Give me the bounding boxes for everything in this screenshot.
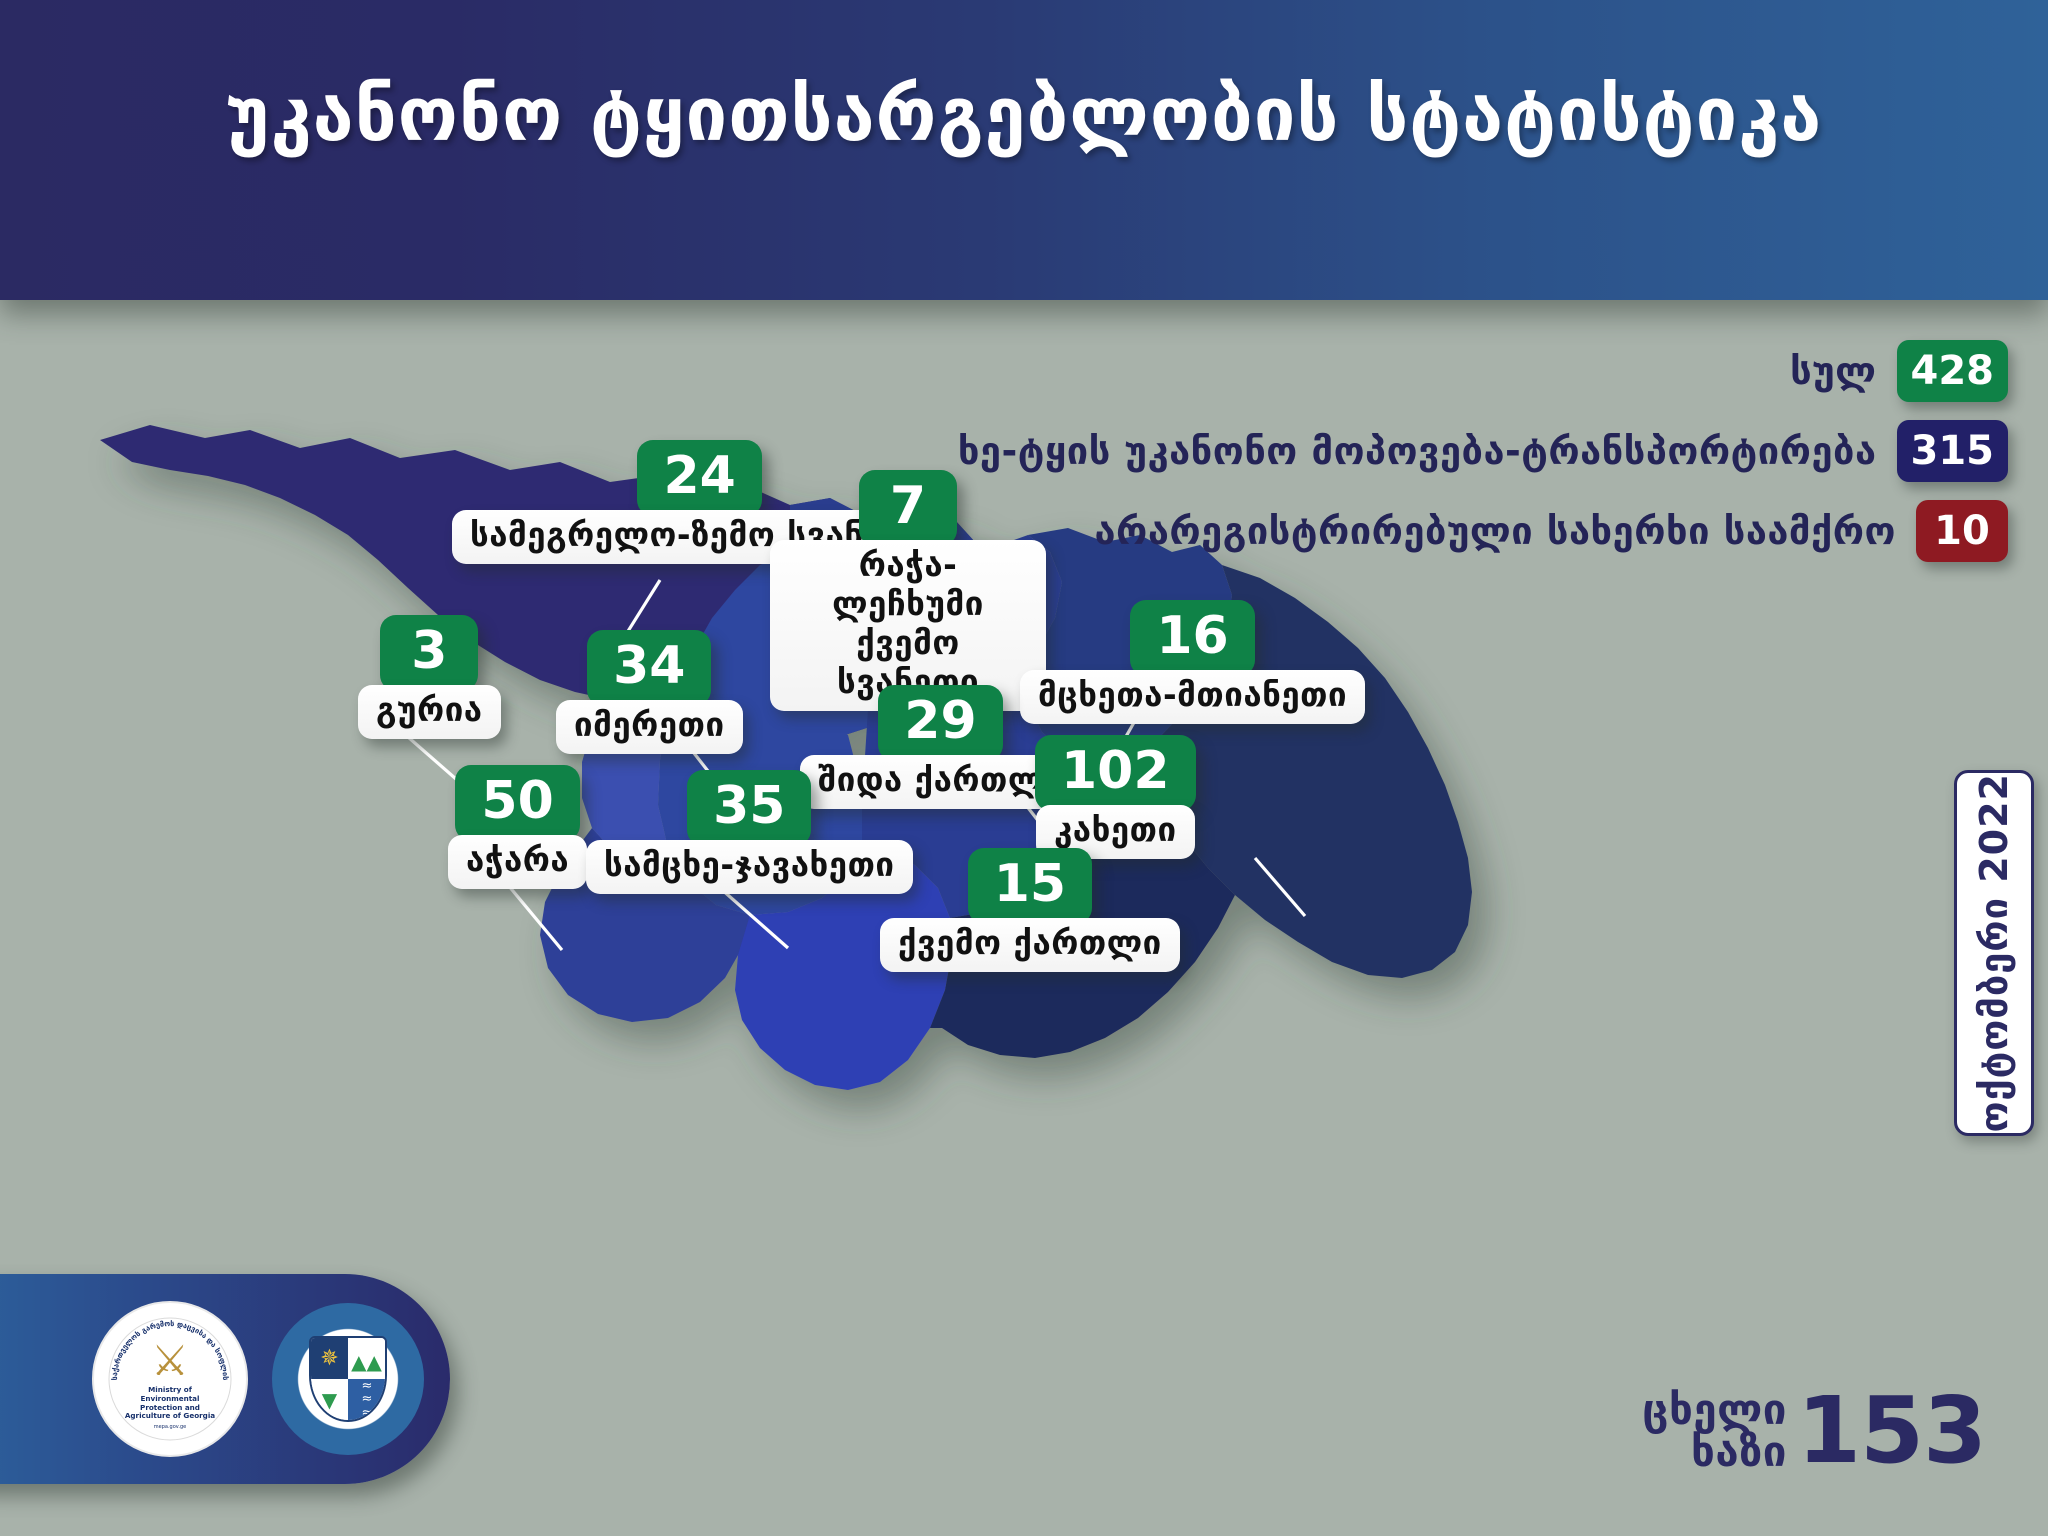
callout-label-samtskhe: სამცხე-ჯავახეთი (586, 840, 913, 894)
waves-icon: ≈≈≈ (362, 1379, 372, 1420)
legend-row-logging: ხე-ტყის უკანონო მოპოვება-ტრანსპორტირება … (658, 420, 2008, 482)
callout-imereti[interactable]: 34 იმერეთი (556, 630, 743, 754)
hotline-label-line1: ცხელი (1642, 1389, 1787, 1430)
svg-text:საქართველოს გარემოს დაცვისა და: საქართველოს გარემოს დაცვისა და სოფლის (110, 1319, 230, 1380)
hotline: ცხელი ხაზი 153 (1642, 1377, 1986, 1484)
shield-quadrant-mountain: ▲▲ (348, 1338, 385, 1379)
legend-label-sawmill: არარეგისტრირებული სახერხი საამქრო (1095, 509, 1897, 553)
callout-value-guria: 3 (380, 615, 478, 691)
mepa-logo-inner: საქართველოს გარემოს დაცვისა და სოფლის ⚔ … (107, 1316, 233, 1442)
mepa-ring-text: საქართველოს გარემოს დაცვისა და სოფლის (107, 1316, 233, 1442)
legend-chip-sawmill: 10 (1916, 500, 2008, 562)
shield-quadrant-tree: ▼ (311, 1379, 348, 1420)
callout-value-imereti: 34 (587, 630, 711, 706)
eps-shield-icon: ✵ ▲▲ ▼ ≈≈≈ (309, 1336, 387, 1422)
legend-label-logging: ხე-ტყის უკანონო მოპოვება-ტრანსპორტირება (958, 429, 1877, 473)
hotline-number: 153 (1797, 1377, 1986, 1484)
callout-label-imereti: იმერეთი (556, 700, 743, 754)
sun-icon: ✵ (320, 1348, 338, 1370)
legend-chip-logging: 315 (1897, 420, 2009, 482)
logo-bar: საქართველოს გარემოს დაცვისა და სოფლის ⚔ … (0, 1274, 450, 1484)
shield-quadrant-water: ≈≈≈ (348, 1379, 385, 1420)
legend-chip-total: 428 (1897, 340, 2009, 402)
callout-samtskhe[interactable]: 35 სამცხე-ჯავახეთი (586, 770, 913, 894)
legend-row-sawmill: არარეგისტრირებული სახერხი საამქრო 10 (658, 500, 2008, 562)
callout-value-adjara: 50 (455, 765, 579, 841)
callout-value-mtskheta: 16 (1130, 600, 1254, 676)
callout-label-kvemokartli: ქვემო ქართლი (880, 918, 1180, 972)
date-text: ოქტომბერი 2022 (1972, 773, 2016, 1133)
callout-adjara[interactable]: 50 აჭარა (448, 765, 587, 889)
callout-kvemokartli[interactable]: 15 ქვემო ქართლი (880, 848, 1180, 972)
date-badge: ოქტომბერი 2022 (1954, 770, 2034, 1136)
legend-label-total: სულ (1790, 349, 1876, 393)
callout-label-guria: გურია (358, 685, 501, 739)
legend: სულ 428 ხე-ტყის უკანონო მოპოვება-ტრანსპო… (658, 340, 2008, 580)
mountain-icon: ▲▲ (351, 1352, 382, 1372)
tree-icon: ▼ (322, 1390, 337, 1410)
hotline-label: ცხელი ხაზი (1642, 1389, 1787, 1471)
page-title: უკანონო ტყითსარგებლობის სტატისტიკა (0, 72, 2048, 158)
hotline-label-line2: ხაზი (1642, 1431, 1787, 1472)
callout-value-shidakartli: 29 (878, 685, 1002, 761)
callout-value-samtskhe: 35 (687, 770, 811, 846)
mepa-logo: საქართველოს გარემოს დაცვისა და სოფლის ⚔ … (92, 1301, 248, 1457)
legend-row-total: სულ 428 (658, 340, 2008, 402)
eps-logo: ✵ ▲▲ ▼ ≈≈≈ (272, 1303, 424, 1455)
shield-quadrant-sun: ✵ (311, 1338, 348, 1379)
callout-guria[interactable]: 3 გურია (358, 615, 501, 739)
callout-kakheti[interactable]: 102 კახეთი (1035, 735, 1196, 859)
callout-value-kakheti: 102 (1035, 735, 1196, 811)
page-header: უკანონო ტყითსარგებლობის სტატისტიკა (0, 0, 2048, 300)
callout-label-adjara: აჭარა (448, 835, 587, 889)
callout-value-kvemokartli: 15 (968, 848, 1092, 924)
